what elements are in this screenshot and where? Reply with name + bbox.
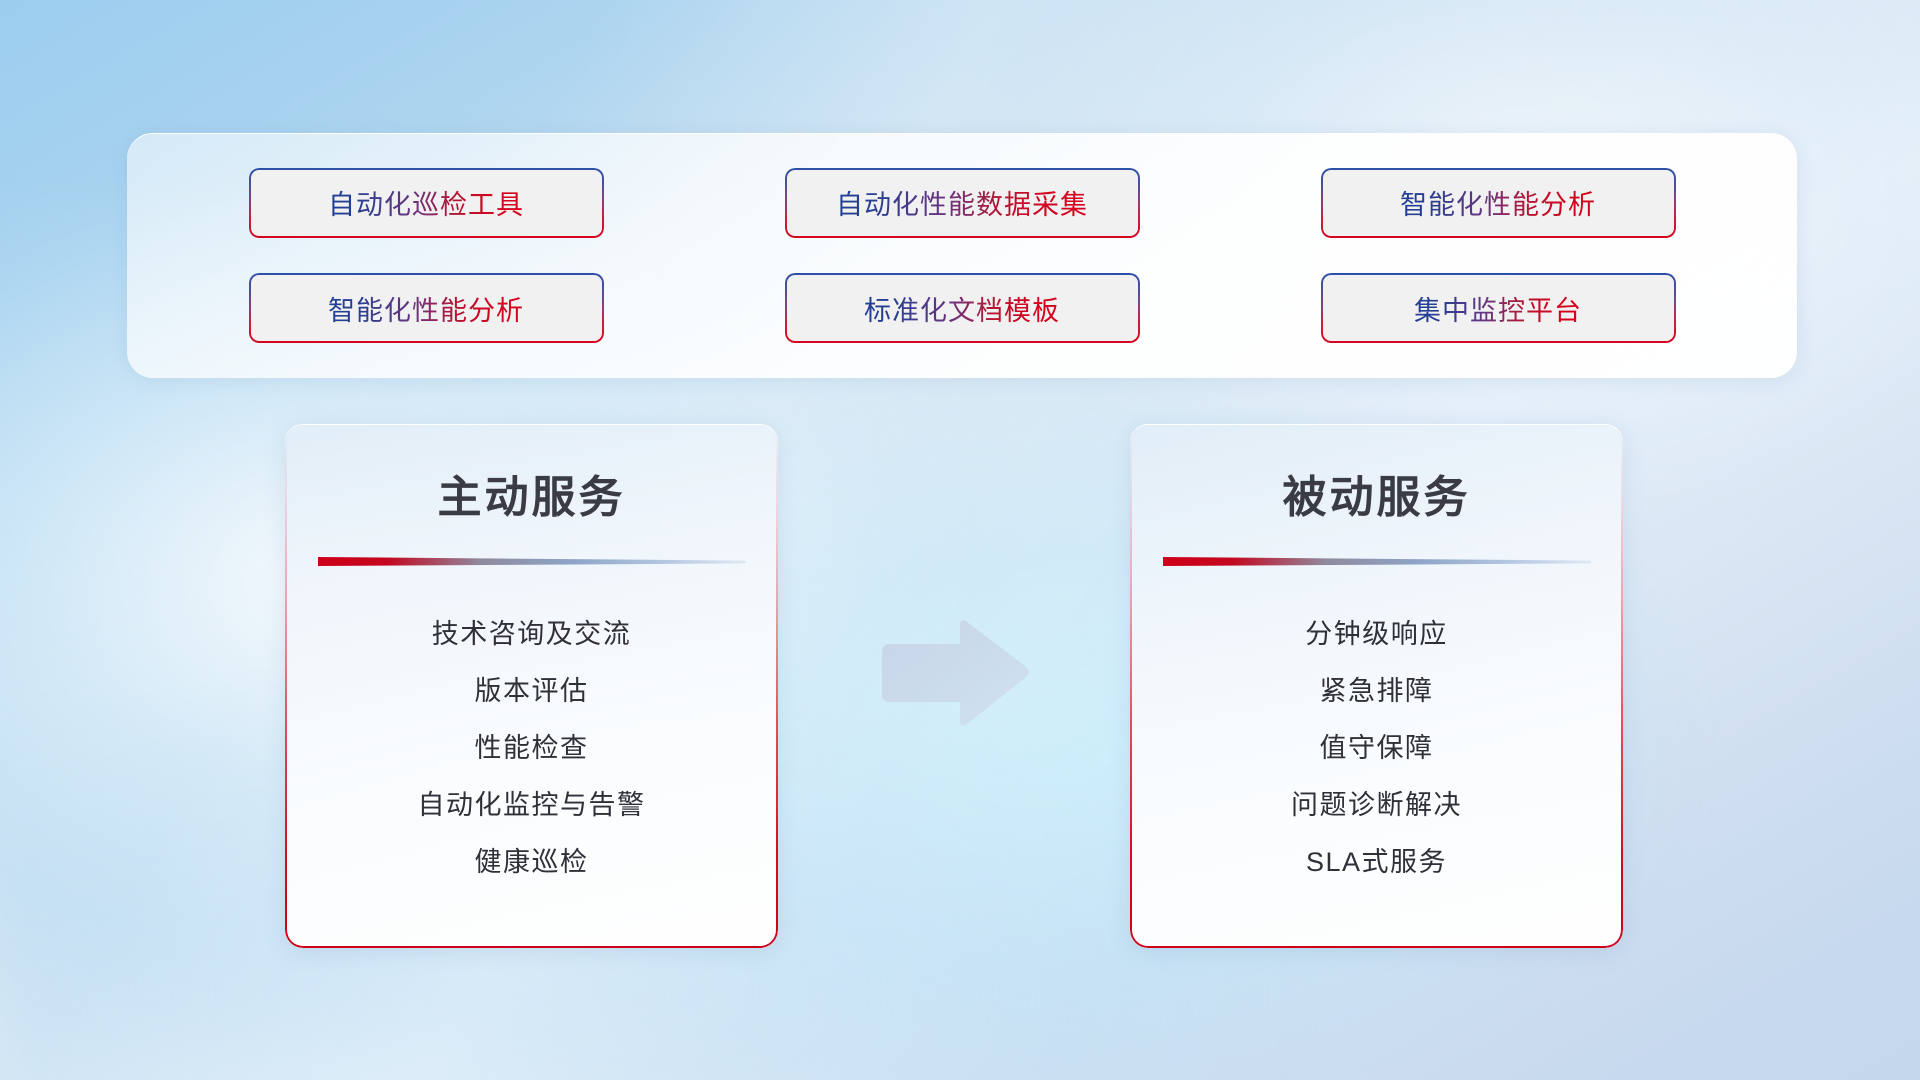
tool-pill-automated-inspection[interactable]: 自动化巡检工具 [249,168,604,238]
list-item[interactable]: 值守保障 [1148,720,1605,777]
tool-pill-label: 智能化性能分析 [1400,183,1596,222]
card-divider [318,555,746,568]
list-item[interactable]: 版本评估 [303,663,760,720]
tool-pill-label: 自动化巡检工具 [328,183,524,222]
tool-pill-label: 集中监控平台 [1414,289,1582,328]
card-title: 被动服务 [1130,461,1623,525]
tool-pill-intelligent-performance-analysis[interactable]: 智能化性能分析 [1321,168,1676,238]
card-divider [1163,555,1591,568]
right-arrow-icon [874,614,1032,732]
tool-pill-central-monitoring-platform[interactable]: 集中监控平台 [1321,273,1676,343]
card-title: 主动服务 [285,461,778,525]
list-item[interactable]: 自动化监控与告警 [303,777,760,834]
service-card-proactive: 主动服务 技术咨询及交流 版本评估 性能检查 [285,424,778,948]
list-item[interactable]: 紧急排障 [1148,663,1605,720]
list-item[interactable]: 问题诊断解决 [1148,777,1605,834]
slide-stage: 自动化巡检工具 自动化性能数据采集 智能化性能分析 智能化性能分析 标准化文档模… [0,0,1920,1080]
list-item[interactable]: 性能检查 [303,720,760,777]
tool-pill-intelligent-performance-analysis-2[interactable]: 智能化性能分析 [249,273,604,343]
list-item[interactable]: 健康巡检 [303,834,760,891]
list-item[interactable]: 技术咨询及交流 [303,606,760,663]
tool-pill-standard-doc-template[interactable]: 标准化文档模板 [785,273,1140,343]
tool-pill-automated-performance-collection[interactable]: 自动化性能数据采集 [785,168,1140,238]
service-card-reactive: 被动服务 分钟级响应 紧急排障 值守保障 [1130,424,1623,948]
tool-pill-label: 标准化文档模板 [864,289,1060,328]
list-item[interactable]: 分钟级响应 [1148,606,1605,663]
tools-panel: 自动化巡检工具 自动化性能数据采集 智能化性能分析 智能化性能分析 标准化文档模… [127,133,1797,378]
tool-pill-label: 自动化性能数据采集 [836,183,1088,222]
list-item[interactable]: SLA式服务 [1148,834,1605,891]
service-list-reactive: 分钟级响应 紧急排障 值守保障 问题诊断解决 SLA式服务 [1130,606,1623,891]
tool-pill-label: 智能化性能分析 [328,289,524,328]
service-list-proactive: 技术咨询及交流 版本评估 性能检查 自动化监控与告警 健康巡检 [285,606,778,891]
